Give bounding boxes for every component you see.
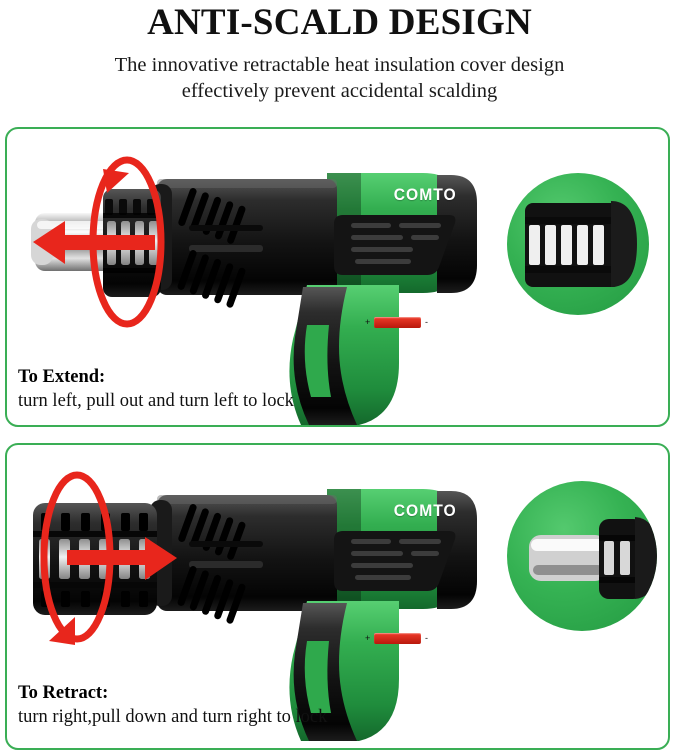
product-infographic: ANTI-SCALD DESIGN The innovative retract… <box>0 0 679 752</box>
inset-nozzle-closeup <box>507 481 657 631</box>
switch-track[interactable] <box>374 633 421 644</box>
subtitle-line-1: The innovative retractable heat insulati… <box>0 52 679 78</box>
cover-cage-closeup <box>525 201 637 287</box>
trigger <box>305 325 331 397</box>
subtitle-line-2: effectively prevent accidental scalding <box>0 78 679 104</box>
caption-to-retract: To Retract: turn right,pull down and tur… <box>18 683 327 728</box>
page-title: ANTI-SCALD DESIGN <box>0 4 679 41</box>
page-subtitle: The innovative retractable heat insulati… <box>0 52 679 104</box>
inset-cover-closeup <box>507 173 649 315</box>
caption-extend-lead: To Extend: <box>18 367 294 388</box>
switch-plus-label: + <box>365 632 370 644</box>
caption-retract-body: turn right,pull down and turn right to l… <box>18 706 327 728</box>
panel-to-retract: COMTO + - <box>5 443 670 750</box>
inset-nozzle-detail <box>507 481 657 631</box>
grip-pad <box>334 215 455 275</box>
caption-extend-body: turn left, pull out and turn left to loc… <box>18 390 294 412</box>
heat-insulation-cover-cage <box>103 189 161 297</box>
grip-pad <box>334 531 455 591</box>
brand-logo-text: COMTO <box>394 501 457 521</box>
switch-plus-label: + <box>365 316 370 328</box>
caption-retract-lead: To Retract: <box>18 683 327 704</box>
heat-insulation-cover-extended <box>33 503 157 615</box>
inset-cover-detail <box>507 173 649 315</box>
switch-minus-label: - <box>425 632 428 644</box>
header: ANTI-SCALD DESIGN The innovative retract… <box>0 0 679 104</box>
caption-to-extend: To Extend: turn left, pull out and turn … <box>18 367 294 412</box>
switch-track[interactable] <box>374 317 421 328</box>
switch-minus-label: - <box>425 316 428 328</box>
gun-handle <box>289 285 399 425</box>
brand-logo-text: COMTO <box>394 185 457 205</box>
chrome-nozzle-closeup <box>529 517 657 599</box>
panel-to-extend: COMTO + - <box>5 127 670 427</box>
